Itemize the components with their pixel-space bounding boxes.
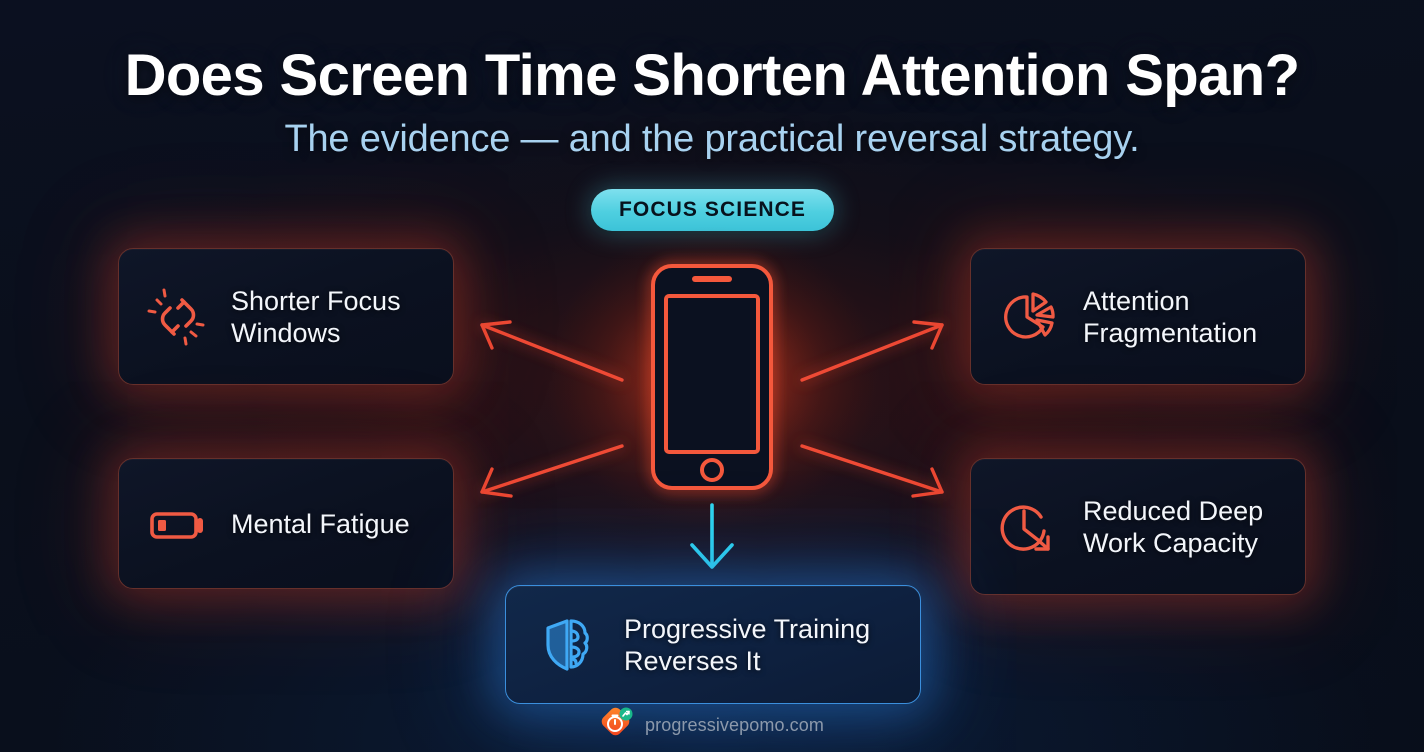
clock-down-arrow-icon — [997, 495, 1061, 559]
card-label: Shorter Focus Windows — [231, 285, 401, 349]
card-attention-fragmentation[interactable]: Attention Fragmentation — [970, 248, 1306, 385]
smartphone-icon — [653, 266, 771, 488]
page-subtitle: The evidence — and the practical reversa… — [0, 118, 1424, 161]
card-mental-fatigue[interactable]: Mental Fatigue — [118, 458, 454, 589]
card-label: Progressive Training Reverses It — [624, 613, 870, 677]
card-shorter-focus-windows[interactable]: Shorter Focus Windows — [118, 248, 454, 385]
arrow-to-reduced-deep-work-capacity — [802, 446, 942, 496]
shield-brain-icon — [538, 614, 600, 676]
footer: progressivepomo.com — [0, 706, 1424, 745]
arrow-to-attention-fragmentation — [802, 322, 942, 380]
arrow-to-progressive-training — [692, 505, 732, 567]
card-label: Reduced Deep Work Capacity — [1083, 495, 1263, 559]
card-label: Mental Fatigue — [231, 508, 410, 540]
card-progressive-training-reverses-it[interactable]: Progressive Training Reverses It — [505, 585, 921, 704]
card-label: Attention Fragmentation — [1083, 285, 1257, 349]
pie-chart-fragments-icon — [997, 285, 1061, 349]
pomodoro-timer-logo — [600, 706, 634, 745]
category-badge: FOCUS SCIENCE — [591, 189, 834, 231]
phone-glow — [544, 226, 880, 530]
broken-link-icon — [147, 286, 209, 348]
arrow-to-mental-fatigue — [482, 446, 622, 496]
infographic-canvas: Does Screen Time Shorten Attention Span?… — [0, 0, 1424, 752]
outward-arrows — [482, 322, 942, 496]
arrow-to-shorter-focus-windows — [482, 322, 622, 380]
page-title: Does Screen Time Shorten Attention Span? — [0, 42, 1424, 109]
low-battery-icon — [147, 493, 209, 555]
footer-site-label: progressivepomo.com — [645, 715, 824, 736]
card-reduced-deep-work-capacity[interactable]: Reduced Deep Work Capacity — [970, 458, 1306, 595]
